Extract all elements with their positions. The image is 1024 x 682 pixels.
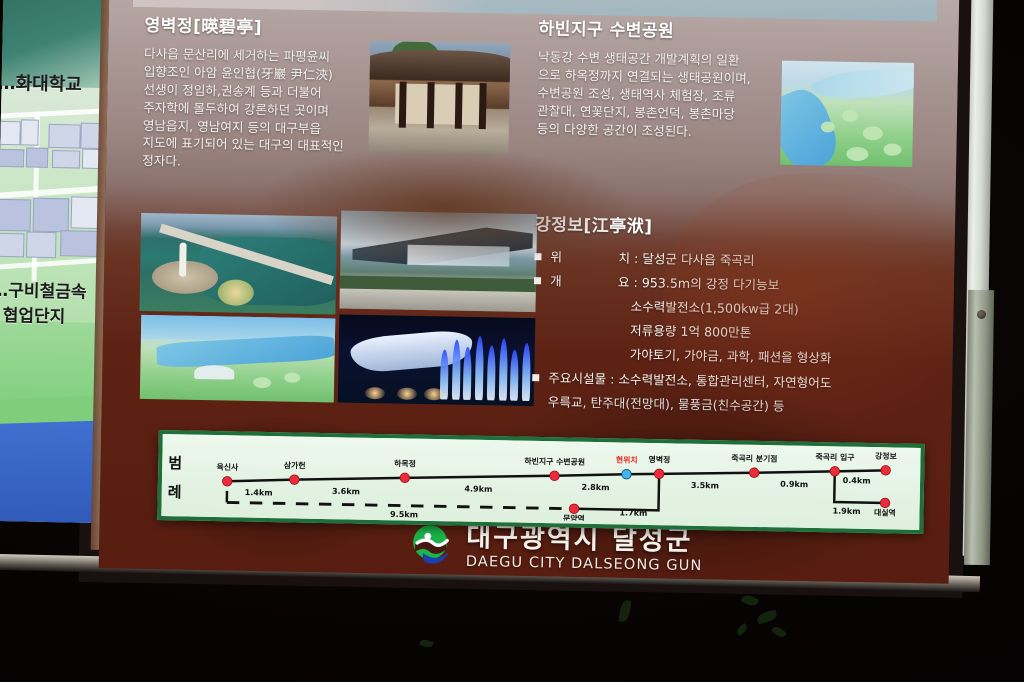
bullet-icon	[534, 277, 541, 284]
route-stop-dot[interactable]	[400, 473, 410, 483]
photo-roof	[368, 49, 510, 82]
route-distance-label: 2.8km	[581, 483, 609, 493]
route-stop-label: 영벽정	[648, 454, 670, 464]
footer-branding: 대구광역시 달성군 DAEGU CITY DALSEONG GUN	[409, 523, 703, 574]
route-stop-dot[interactable]	[654, 469, 664, 479]
route-stop-dot[interactable]	[881, 465, 891, 475]
route-stop-label: 하빈지구 수변공원	[524, 456, 585, 467]
route-distance-label: 1.9km	[832, 507, 860, 517]
map-building-block	[48, 124, 80, 149]
map-building-block	[0, 149, 24, 168]
photo-wall	[395, 84, 484, 126]
bullet-icon	[532, 374, 539, 381]
photo-pillar	[455, 83, 463, 129]
info-row-label: 개	[550, 270, 618, 290]
photo-river-upper	[810, 66, 914, 103]
map-building-block	[52, 150, 80, 169]
photo-water-jet	[499, 339, 508, 401]
photo-light-glow	[397, 388, 417, 400]
route-distance-label: 3.5km	[691, 481, 719, 491]
route-stop-dot[interactable]	[222, 476, 232, 486]
route-distance-label: 1.4km	[245, 488, 273, 498]
route-distance-label: 4.9km	[464, 484, 492, 494]
hanok-pavilion-photo	[368, 41, 510, 156]
route-distance-label: 0.9km	[780, 480, 808, 490]
photo-tree	[820, 122, 834, 133]
route-stop-dot[interactable]	[749, 468, 759, 478]
photo-tree	[846, 147, 868, 161]
photo-tree	[883, 144, 901, 156]
photo-pavilion	[194, 365, 234, 380]
route-stop-dot[interactable]	[830, 466, 840, 476]
photo-tree	[253, 377, 271, 388]
map-building-block	[0, 121, 21, 145]
route-stop-dot[interactable]	[880, 498, 890, 508]
river-park-aerial-photo	[140, 315, 336, 403]
post-bolt	[977, 310, 986, 319]
photo-tree	[284, 373, 300, 383]
route-stop-label: 현위치	[616, 455, 638, 465]
route-stop-label: 대실역	[874, 507, 896, 517]
footer-text: 대구광역시 달성군 DAEGU CITY DALSEONG GUN	[466, 524, 703, 574]
article-yeongbyeokjeong: 영벽정[暎碧亭] 다사읍 문산리에 세거하는 파평윤씨 입향조인 아암 윤인협(…	[142, 11, 395, 175]
photo-tower	[179, 243, 187, 277]
waterfront-park-rendering-photo	[780, 61, 914, 167]
route-stop-dot[interactable]	[290, 475, 300, 485]
route-stop-dot[interactable]	[622, 469, 632, 479]
route-dashed-line	[227, 502, 574, 508]
map-building-block	[26, 147, 48, 167]
route-diagram[interactable]: 육신사삼가헌하목정하빈지구 수변공원현위치영벽정죽곡리 분기점죽곡리 입구강정보…	[161, 434, 920, 527]
map-label-industrial-complex-line1: …구비철금속	[0, 276, 87, 303]
route-stop-label: 하목정	[394, 458, 416, 468]
photo-pillar	[479, 83, 487, 129]
photo-pillar	[427, 82, 435, 128]
music-fountain-night-photo	[338, 315, 536, 407]
map-label-university: …화대학교	[0, 69, 82, 97]
photo-river	[156, 334, 336, 368]
route-stop-label: 삼가헌	[284, 460, 306, 470]
photo-water-jet	[510, 349, 519, 400]
article-title: 하빈지구 수변공원	[538, 14, 788, 44]
screenshot-root: …화대학교 …구비철금속 협업단지 영벽정[暎碧亭] 다사읍 문산리에 세거하는…	[0, 0, 1024, 682]
route-distance-label: 3.6km	[332, 487, 360, 497]
route-stop-label: 죽곡리 입구	[816, 451, 855, 462]
route-distance-label: 0.4km	[843, 476, 871, 486]
map-building-block	[0, 233, 24, 258]
photo-water-jet	[463, 347, 472, 400]
map-building-block	[20, 119, 39, 145]
photo-tree	[862, 127, 882, 141]
article-title: 영벽정[暎碧亭]	[144, 11, 394, 41]
route-stop-dot[interactable]	[569, 504, 579, 514]
route-stop-label: 육신사	[217, 462, 240, 472]
photo-water-jet	[487, 345, 496, 400]
photo-water-jet	[522, 343, 531, 401]
photo-water-jet	[475, 336, 484, 399]
route-stop-label: 강정보	[875, 451, 897, 461]
photo-light-glow	[365, 388, 385, 400]
map-building-block	[26, 231, 57, 258]
route-distance-label: 1.7km	[619, 508, 647, 518]
article-body: 낙동강 수변 생태공간 개발계획의 일환 으로 하옥정까지 연결되는 생태공원이…	[537, 48, 789, 142]
photo-walkway	[339, 289, 535, 312]
photo-pillar	[399, 82, 407, 128]
route-stop-dot[interactable]	[550, 471, 560, 481]
map-label-industrial-complex-line2: 협업단지	[3, 301, 66, 327]
photo-flower-garden	[218, 279, 254, 306]
map-building-block	[33, 198, 70, 233]
support-post-lower	[964, 290, 994, 565]
photo-water-jet	[452, 340, 461, 400]
dalseong-gun-logo	[409, 523, 456, 570]
photo-tree	[842, 110, 858, 122]
route-legend-box[interactable]: 범 례 육신사삼가헌하목정하빈지구 수변공원현위치영벽정죽곡리 분기점죽곡리 입…	[157, 430, 925, 534]
article-habin-waterfront-park: 하빈지구 수변공원 낙동강 수변 생태공간 개발계획의 일환 으로 하옥정까지 …	[537, 14, 789, 142]
route-stop-label: 죽곡리 분기점	[731, 453, 777, 464]
map-building-block	[0, 199, 31, 232]
